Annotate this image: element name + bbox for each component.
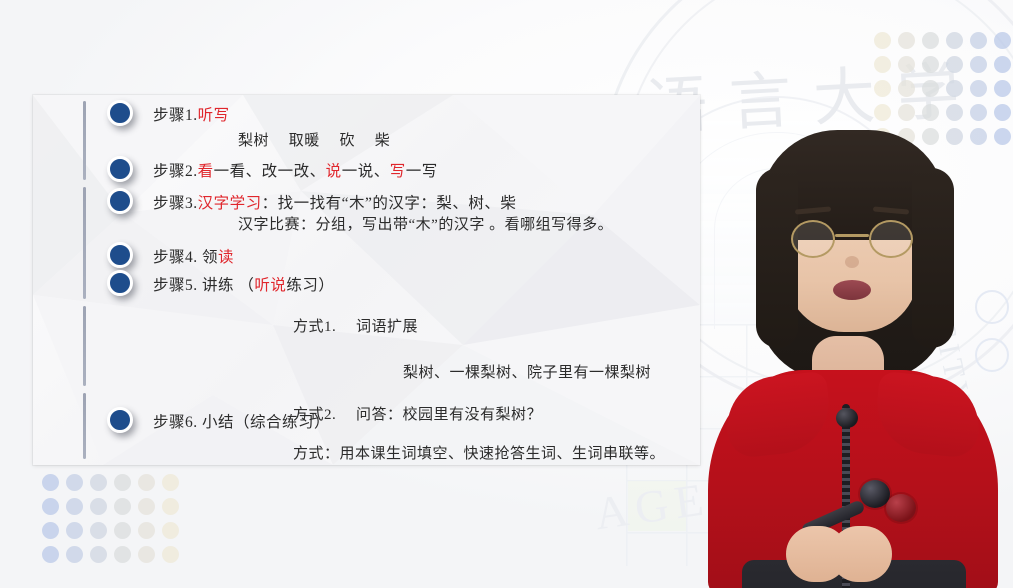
decorative-dot [162,546,179,563]
lecture-video-frame: 语言大学 AGE AND UNIVERSITY [0,0,1013,588]
presenter-eyeglass-right [869,220,913,258]
decorative-dot [946,32,963,49]
step-5-segment-2: 听说 [254,277,286,294]
presenter-collar-button [836,408,858,428]
decorative-dot [138,474,155,491]
decorative-dot [42,522,59,539]
decorative-dot [66,474,83,491]
decorative-dot [946,80,963,97]
step-5-detail-1: 方式1. 词语扩展 [293,315,418,336]
step-1-heading: 步骤1.听写 [153,103,230,125]
step-4-segment-2: 读 [218,249,234,266]
slide-bullet-1[interactable] [107,100,133,126]
decorative-dot [874,32,891,49]
decorative-dot [922,80,939,97]
decorative-dot [90,522,107,539]
step-4-heading: 步骤4. 领读 [153,245,234,267]
presenter-hair-side-right [912,168,954,348]
step-3-detail-1: 汉字比赛：分组，写出带“木”的汉字 。看哪组写得多。 [238,213,613,234]
decorative-dot [42,546,59,563]
decorative-dot [114,498,131,515]
step-3-segment-1: 步骤3. [153,195,198,212]
decorative-dot [66,522,83,539]
step-5-segment-3: 练习） [286,277,334,294]
step-5-detail-3: 方式2. 问答：校园里有没有梨树？ [293,403,542,424]
step-1-segment-1: 步骤1. [153,107,198,124]
step-1-segment-2: 听写 [198,107,230,124]
presenter-nose [845,256,859,268]
step-2-segment-1: 步骤2. [153,163,198,180]
decorative-dot [898,80,915,97]
decorative-dot [970,56,987,73]
slide-bullet-2[interactable] [107,156,133,182]
step-2-segment-2: 看 [198,163,214,180]
step-5-heading: 步骤5. 讲练 （听说练习） [153,273,334,295]
slide-bullet-3[interactable] [107,188,133,214]
decorative-dot [138,546,155,563]
decorative-dot [90,546,107,563]
step-2-segment-6: 写 [390,163,406,180]
decorative-dot [66,498,83,515]
slide-vertical-rail [83,95,86,465]
presentation-slide-panel: 步骤1.听写梨树 取暖 砍 柴步骤2.看一看、改一改、说一说、写一写步骤3.汉字… [33,95,700,465]
slide-bullet-5[interactable] [107,270,133,296]
decorative-dot [114,546,131,563]
step-2-heading: 步骤2.看一看、改一改、说一说、写一写 [153,159,438,181]
presenter-mouth [833,280,871,300]
step-3-heading: 步骤3.汉字学习：找一找有“木”的汉字：梨、树、柴 [153,191,516,213]
decorative-dot [90,474,107,491]
step-6-heading: 步骤6. 小结（综合练习） [153,410,330,432]
instructor-presenter [690,108,1013,588]
presenter-eyeglass-bridge [835,234,869,237]
decorative-dot [994,56,1011,73]
decorative-dot [138,522,155,539]
decorative-dot [970,80,987,97]
decorative-dot [898,56,915,73]
decorative-dot [874,80,891,97]
presenter-brooch-red [886,494,916,522]
decorative-dot [162,522,179,539]
decorative-dot [922,32,939,49]
step-2-segment-7: 一写 [406,163,438,180]
decorative-dot [162,498,179,515]
decorative-dot [970,32,987,49]
decorative-dot [90,498,107,515]
presenter-eyeglass-left [791,220,835,258]
step-3-segment-3: ：找一找有“木”的汉字：梨、树、柴 [262,195,517,212]
step-4-segment-1: 步骤4. 领 [153,249,218,266]
decorative-dot [898,32,915,49]
presenter-hair-side-left [756,168,798,348]
slide-bullet-4[interactable] [107,242,133,268]
decorative-dot [162,474,179,491]
decorative-dot [994,80,1011,97]
step-5-segment-1: 步骤5. 讲练 （ [153,277,254,294]
decorative-dot [922,56,939,73]
decorative-dot [994,32,1011,49]
decorative-dot [114,474,131,491]
presenter-hand-right [830,526,892,582]
step-2-segment-5: 一说、 [342,163,390,180]
decorative-dot [138,498,155,515]
decorative-dot [66,546,83,563]
decorative-dot [114,522,131,539]
step-2-segment-3: 一看、改一改、 [214,163,326,180]
step-5-detail-2: 梨树、一棵梨树、院子里有一棵梨树 [403,361,651,382]
step-6-segment-1: 步骤6. 小结（综合练习） [153,414,330,431]
decorative-dot [946,56,963,73]
step-3-segment-2: 汉字学习 [198,195,262,212]
dot-grid-bottom-left [42,474,186,570]
decorative-dot [42,474,59,491]
step-6-detail-1: 方式：用本课生词填空、快速抢答生词、生词串联等。 [293,442,665,463]
step-2-segment-4: 说 [326,163,342,180]
step-1-detail-1: 梨树 取暖 砍 柴 [238,129,390,150]
decorative-dot [42,498,59,515]
decorative-dot [874,56,891,73]
slide-bullet-6[interactable] [107,407,133,433]
